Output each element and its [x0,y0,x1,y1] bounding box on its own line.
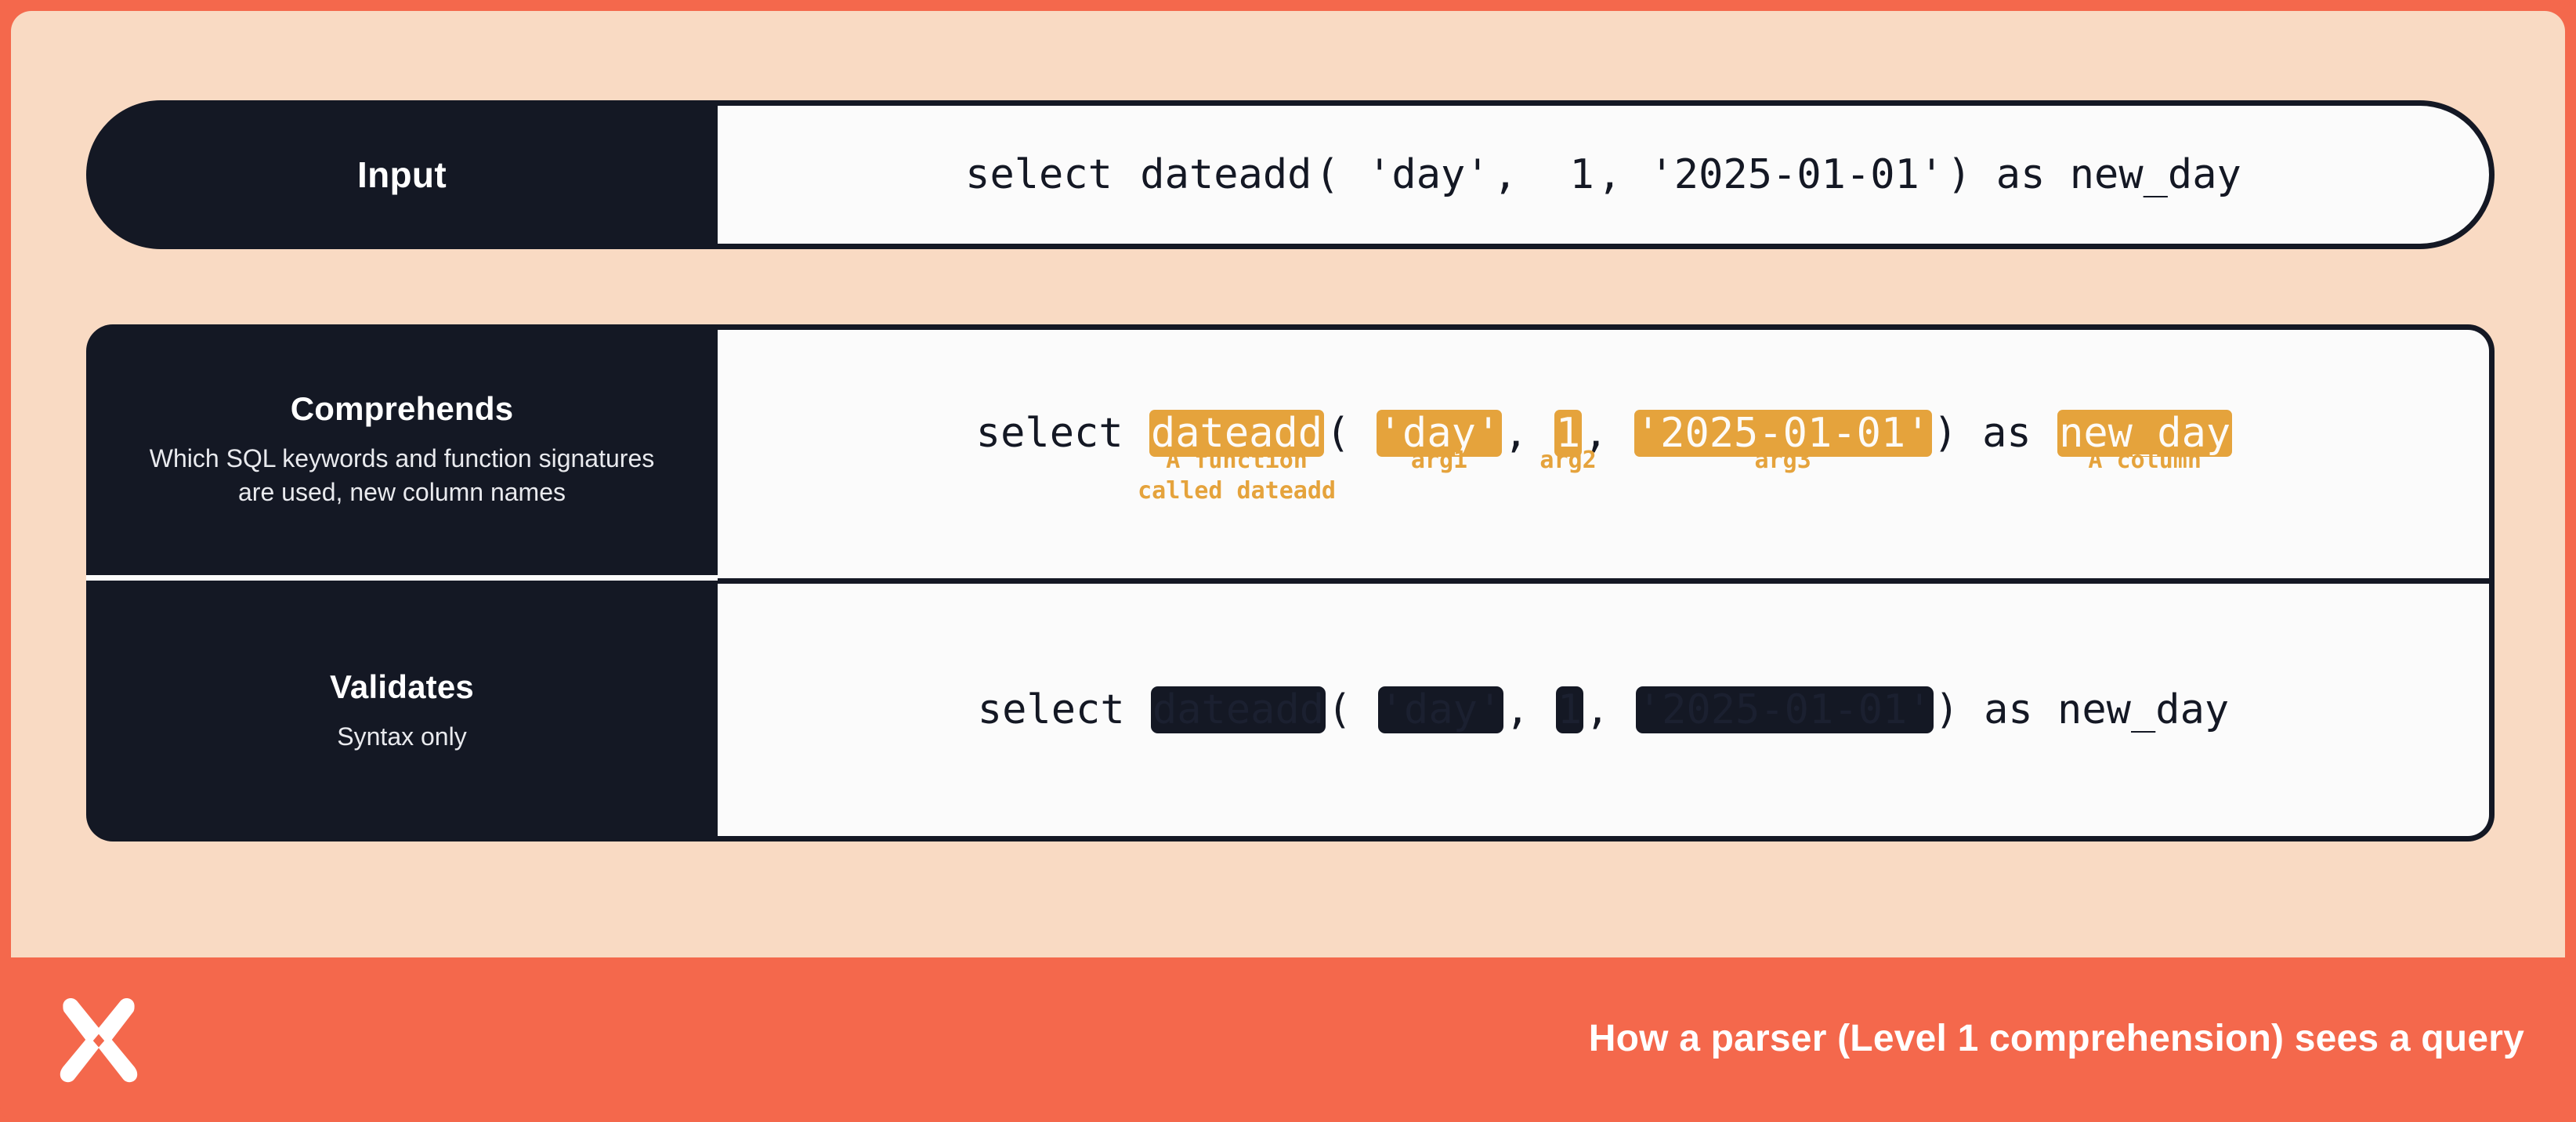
table-label-column: Comprehends Which SQL keywords and funct… [86,324,718,841]
input-row: Input select dateadd( 'day', 1, '2025-01… [86,100,2495,249]
validates-subtitle: Syntax only [337,720,466,754]
token-annotation: arg2 [1539,446,1596,476]
code-token-group: '2025-01-01' [1636,686,1934,733]
code-token-group: new_dayA column [2057,410,2232,457]
input-sql-code: select dateadd( 'day', 1, '2025-01-01') … [964,151,2243,198]
code-token: , [1583,686,1636,733]
code-token-group: 1arg2 [1554,410,1582,457]
validates-sql-code: select dateadd( 'day', 1, '2025-01-01') … [976,686,2230,733]
code-token: ) as [1932,410,2058,457]
code-token: 'day' [1366,151,1492,198]
code-token: ( [1313,151,1366,198]
content-canvas: Input select dateadd( 'day', 1, '2025-01… [11,11,2565,957]
code-token: select [975,410,1149,457]
code-token: , [1492,151,1568,198]
input-row-code-panel: select dateadd( 'day', 1, '2025-01-01') … [686,100,2495,249]
infographic-frame: Input select dateadd( 'day', 1, '2025-01… [0,0,2576,1122]
comprehends-subtitle: Which SQL keywords and function signatur… [143,442,660,509]
code-token: ) as new_day [1945,151,2243,198]
code-token-group: '2025-01-01'arg3 [1634,410,1932,457]
table-code-column: select dateaddA function called dateadd(… [702,324,2495,841]
comprehends-title: Comprehends [291,390,514,428]
token-annotation: arg3 [1755,446,1811,476]
code-token-group: 1 [1556,686,1583,733]
redacted-token: dateadd [1151,686,1326,733]
x-mark-logo-icon [52,993,146,1087]
code-token-group: dateadd [1151,686,1326,733]
code-token: , [1503,686,1556,733]
footer-caption: How a parser (Level 1 comprehension) see… [1589,1017,2524,1063]
validates-label-cell: Validates Syntax only [86,581,718,841]
redacted-token: 1 [1556,686,1583,733]
code-token: 1 [1568,151,1596,198]
code-token: dateadd [1138,151,1313,198]
comprehends-code-cell: select dateaddA function called dateadd(… [718,330,2489,578]
footer-bar: How a parser (Level 1 comprehension) see… [0,957,2576,1122]
code-column-divider [718,578,2489,584]
code-token-group: dateaddA function called dateadd [1149,410,1324,457]
code-token: select [964,151,1138,198]
code-token: , [1596,151,1648,198]
comparison-table: Comprehends Which SQL keywords and funct… [86,324,2495,841]
code-token-group: 'day'arg1 [1377,410,1503,457]
token-annotation: arg1 [1411,446,1467,476]
token-annotation: A column [2088,446,2202,476]
code-token: '2025-01-01' [1648,151,1945,198]
validates-code-cell: select dateadd( 'day', 1, '2025-01-01') … [718,584,2489,836]
comprehends-label-cell: Comprehends Which SQL keywords and funct… [86,324,718,575]
label-column-divider [86,575,718,581]
code-token: select [976,686,1151,733]
code-token: ) as new_day [1934,686,2231,733]
comprehends-sql-code: select dateaddA function called dateadd(… [975,410,2232,457]
validates-title: Validates [330,668,474,706]
redacted-token: '2025-01-01' [1636,686,1934,733]
code-token: ( [1326,686,1378,733]
code-token-group: 'day' [1378,686,1504,733]
input-label-text: Input [357,154,447,196]
input-row-label: Input [86,100,718,249]
redacted-token: 'day' [1378,686,1504,733]
token-annotation: A function called dateadd [1138,446,1336,506]
